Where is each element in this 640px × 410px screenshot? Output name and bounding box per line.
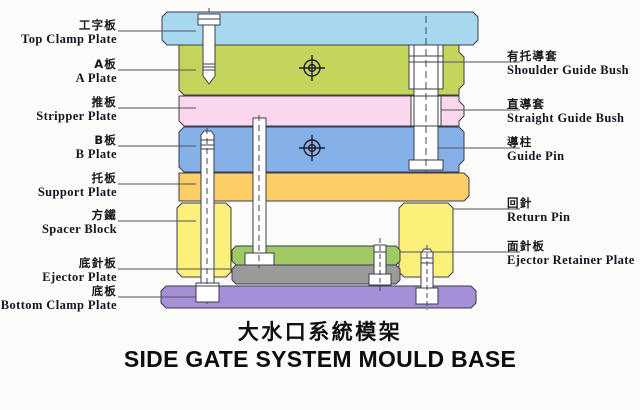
mould-base-diagram: 工字板 Top Clamp Plate A板 A Plate 推板 Stripp… (0, 0, 640, 410)
title-english: SIDE GATE SYSTEM MOULD BASE (0, 346, 640, 373)
label-top-clamp-plate: 工字板 Top Clamp Plate (21, 18, 117, 47)
label-bottom-clamp-plate-cn: 底板 (1, 284, 117, 298)
bottom-clamp-screw-left (196, 286, 219, 302)
label-b-plate-en: B Plate (76, 147, 117, 162)
label-ejector-plate-cn: 底針板 (42, 256, 117, 270)
label-ejector-retainer-plate: 面針板 Ejector Retainer Plate (507, 239, 635, 268)
label-stripper-plate: 推板 Stripper Plate (36, 95, 117, 124)
label-guide-pin: 導柱 Guide Pin (507, 135, 564, 164)
label-a-plate-cn: A板 (76, 57, 117, 71)
label-support-plate-en: Support Plate (38, 185, 117, 200)
label-support-plate: 托板 Support Plate (38, 171, 117, 200)
label-shoulder-guide-bush: 有托導套 Shoulder Guide Bush (507, 49, 629, 78)
label-straight-guide-bush: 直導套 Straight Guide Bush (507, 97, 624, 126)
label-ejector-retainer-plate-en: Ejector Retainer Plate (507, 253, 635, 268)
label-support-plate-cn: 托板 (38, 171, 117, 185)
label-stripper-plate-cn: 推板 (36, 95, 117, 109)
label-guide-pin-cn: 導柱 (507, 135, 564, 149)
label-stripper-plate-en: Stripper Plate (36, 109, 117, 124)
label-top-clamp-plate-cn: 工字板 (21, 18, 117, 32)
label-ejector-plate-en: Ejector Plate (42, 270, 117, 285)
label-bottom-clamp-plate: 底板 Bottom Clamp Plate (1, 284, 117, 313)
label-shoulder-guide-bush-en: Shoulder Guide Bush (507, 63, 629, 78)
label-ejector-plate: 底針板 Ejector Plate (42, 256, 117, 285)
support-plate (179, 173, 469, 201)
label-spacer-block-en: Spacer Block (42, 222, 117, 237)
title-block: 大水口系統模架 SIDE GATE SYSTEM MOULD BASE (0, 316, 640, 373)
label-a-plate: A板 A Plate (76, 57, 117, 86)
label-b-plate-cn: B板 (76, 133, 117, 147)
label-ejector-retainer-plate-cn: 面針板 (507, 239, 635, 253)
label-guide-pin-en: Guide Pin (507, 149, 564, 164)
label-top-clamp-plate-en: Top Clamp Plate (21, 32, 117, 47)
label-return-pin: 回針 Return Pin (507, 196, 570, 225)
label-spacer-block: 方鐵 Spacer Block (42, 208, 117, 237)
label-a-plate-en: A Plate (76, 71, 117, 86)
label-b-plate: B板 B Plate (76, 133, 117, 162)
label-bottom-clamp-plate-en: Bottom Clamp Plate (1, 298, 117, 313)
label-spacer-block-cn: 方鐵 (42, 208, 117, 222)
label-shoulder-guide-bush-cn: 有托導套 (507, 49, 629, 63)
title-chinese: 大水口系統模架 (0, 316, 640, 346)
label-return-pin-en: Return Pin (507, 210, 570, 225)
label-straight-guide-bush-cn: 直導套 (507, 97, 624, 111)
label-straight-guide-bush-en: Straight Guide Bush (507, 111, 624, 126)
label-return-pin-cn: 回針 (507, 196, 570, 210)
